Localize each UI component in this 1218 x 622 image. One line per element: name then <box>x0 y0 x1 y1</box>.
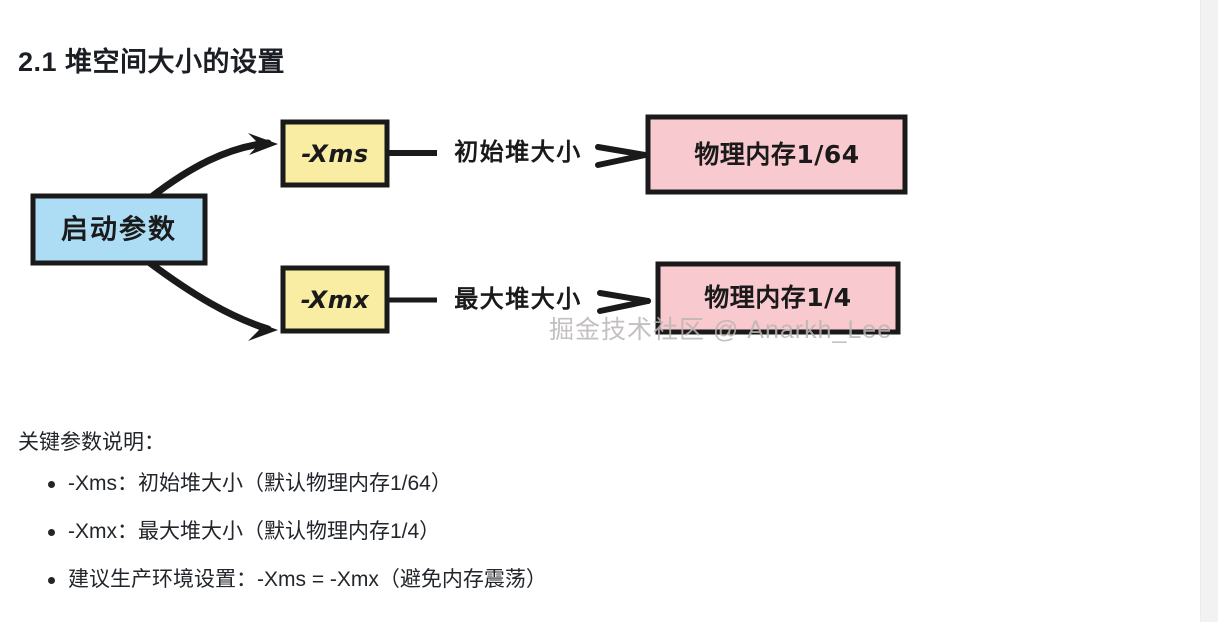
arrow-root-to-xms <box>150 133 278 198</box>
node-physical-memory-1-4-label: 物理内存1/4 <box>704 283 851 312</box>
edge-xmx-to-physical-memory: 最大堆大小 <box>387 285 648 313</box>
node-startup-parameters: 启动参数 <box>33 196 205 263</box>
list-item: -Xmx：最大堆大小（默认物理内存1/4） <box>18 518 918 546</box>
node-startup-parameters-label: 启动参数 <box>61 214 177 246</box>
node-xmx-label: -Xmx <box>301 286 371 314</box>
bullet-dot-icon <box>48 577 55 584</box>
node-xms-label: -Xms <box>301 140 368 168</box>
node-physical-memory-1-64: 物理内存1/64 <box>648 117 905 192</box>
edge-label-max-heap-size: 最大堆大小 <box>454 285 582 313</box>
article-page: 2.1 堆空间大小的设置 启动参数 -Xms <box>0 0 1200 622</box>
list-item: 建议生产环境设置：-Xms = -Xmx（避免内存震荡） <box>18 566 918 594</box>
list-item: -Xms：初始堆大小（默认物理内存1/64） <box>18 470 918 498</box>
list-item-text: -Xmx：最大堆大小（默认物理内存1/4） <box>68 520 440 543</box>
page-title: 2.1 堆空间大小的设置 <box>18 40 285 79</box>
list-item-text: 建议生产环境设置：-Xms = -Xmx（避免内存震荡） <box>68 568 547 591</box>
bullet-dot-icon <box>48 481 55 488</box>
node-physical-memory-1-64-label: 物理内存1/64 <box>694 140 859 169</box>
node-xmx: -Xmx <box>283 268 387 331</box>
heap-parameter-diagram: 启动参数 -Xms -Xmx 初始堆大小 最大堆大小 <box>0 95 1000 385</box>
arrow-root-to-xmx <box>150 263 278 341</box>
list-item-text: -Xms：初始堆大小（默认物理内存1/64） <box>68 472 452 495</box>
vertical-scrollbar[interactable] <box>1200 0 1218 622</box>
key-parameters-lead: 关键参数说明： <box>18 426 165 456</box>
edge-xms-to-physical-memory: 初始堆大小 <box>387 138 645 166</box>
edge-label-initial-heap-size: 初始堆大小 <box>454 138 582 166</box>
node-xms: -Xms <box>283 122 387 185</box>
watermark-text: 掘金技术社区 @ Anarkh_Lee <box>549 316 892 344</box>
bullet-dot-icon <box>48 529 55 536</box>
key-parameters-list: -Xms：初始堆大小（默认物理内存1/64） -Xmx：最大堆大小（默认物理内存… <box>18 470 918 614</box>
